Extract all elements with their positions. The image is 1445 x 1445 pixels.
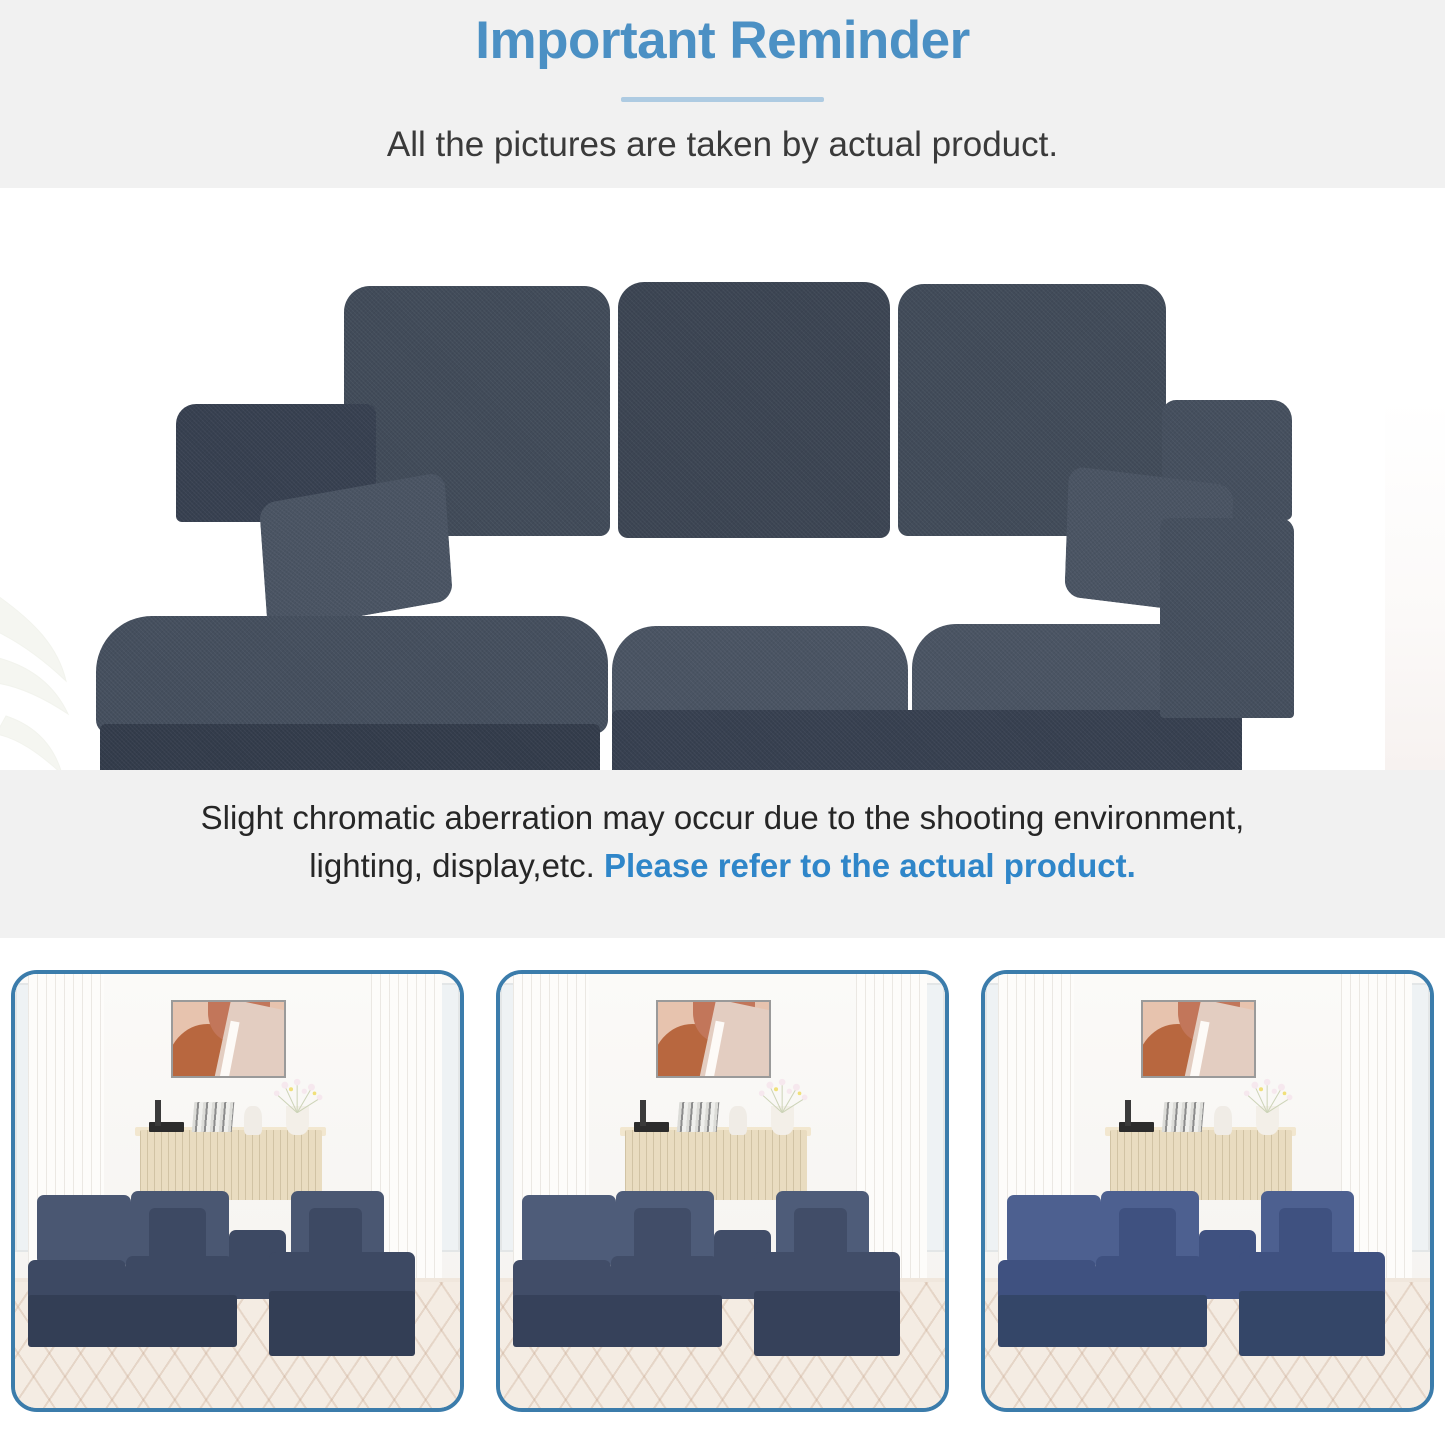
book-stack bbox=[1162, 1102, 1205, 1132]
scene-sofa-back-left bbox=[1007, 1195, 1100, 1264]
living-room-scene-3 bbox=[985, 974, 1430, 1408]
disclaimer-band: Slight chromatic aberration may occur du… bbox=[0, 770, 1445, 938]
disclaimer-line-1: Slight chromatic aberration may occur du… bbox=[0, 795, 1445, 842]
living-room-scene-2 bbox=[500, 974, 945, 1408]
sectional-sofa-illustration bbox=[0, 188, 1445, 770]
scene-sofa-back-left bbox=[37, 1195, 130, 1264]
ceramic-statue bbox=[1214, 1106, 1232, 1134]
reed-diffuser bbox=[155, 1100, 161, 1126]
page-title: Important Reminder bbox=[0, 8, 1445, 74]
console-table bbox=[140, 1130, 322, 1199]
scene-panel-3[interactable] bbox=[981, 970, 1434, 1412]
sofa-right-arm-front bbox=[1160, 518, 1294, 718]
title-divider bbox=[621, 97, 824, 102]
header-subtitle: All the pictures are taken by actual pro… bbox=[0, 122, 1445, 168]
ceramic-statue bbox=[244, 1106, 262, 1134]
scene-panel-row bbox=[0, 938, 1445, 1445]
scene-sofa-base bbox=[998, 1295, 1207, 1347]
console-table bbox=[625, 1130, 807, 1199]
decor-tray bbox=[634, 1122, 670, 1133]
wall-artwork bbox=[171, 1000, 287, 1078]
decor-tray bbox=[1119, 1122, 1155, 1133]
decor-tray bbox=[149, 1122, 185, 1133]
flower-arrangement-icon bbox=[1236, 1078, 1298, 1113]
flower-arrangement-icon bbox=[751, 1078, 813, 1113]
scene-sofa-base bbox=[28, 1295, 237, 1347]
disclaimer-accent: Please refer to the actual product. bbox=[604, 847, 1136, 884]
scene-sofa-back-left bbox=[522, 1195, 615, 1264]
wall-artwork bbox=[656, 1000, 772, 1078]
scene-panel-2[interactable] bbox=[496, 970, 949, 1412]
ceramic-statue bbox=[729, 1106, 747, 1134]
sofa-chaise-seat-cushion bbox=[96, 616, 608, 734]
sofa-back-cushion-center bbox=[618, 282, 890, 538]
living-room-scene-1 bbox=[15, 974, 460, 1408]
reed-diffuser bbox=[640, 1100, 646, 1126]
disclaimer-line-2: lighting, display,etc. Please refer to t… bbox=[0, 843, 1445, 890]
flower-arrangement-icon bbox=[266, 1078, 328, 1113]
sofa-chaise-base bbox=[100, 724, 600, 770]
scene-sofa-base bbox=[513, 1295, 722, 1347]
reed-diffuser bbox=[1125, 1100, 1131, 1126]
scene-ottoman-base bbox=[1239, 1291, 1386, 1356]
scene-ottoman-base bbox=[754, 1291, 901, 1356]
book-stack bbox=[192, 1102, 235, 1132]
header-band: Important Reminder All the pictures are … bbox=[0, 0, 1445, 188]
hero-product-image bbox=[0, 188, 1445, 770]
book-stack bbox=[677, 1102, 720, 1132]
wall-artwork bbox=[1141, 1000, 1257, 1078]
scene-ottoman-base bbox=[269, 1291, 416, 1356]
disclaimer-line-2-plain: lighting, display,etc. bbox=[309, 847, 604, 884]
console-table bbox=[1110, 1130, 1292, 1199]
sofa-main-base bbox=[612, 710, 1242, 770]
scene-panel-1[interactable] bbox=[11, 970, 464, 1412]
